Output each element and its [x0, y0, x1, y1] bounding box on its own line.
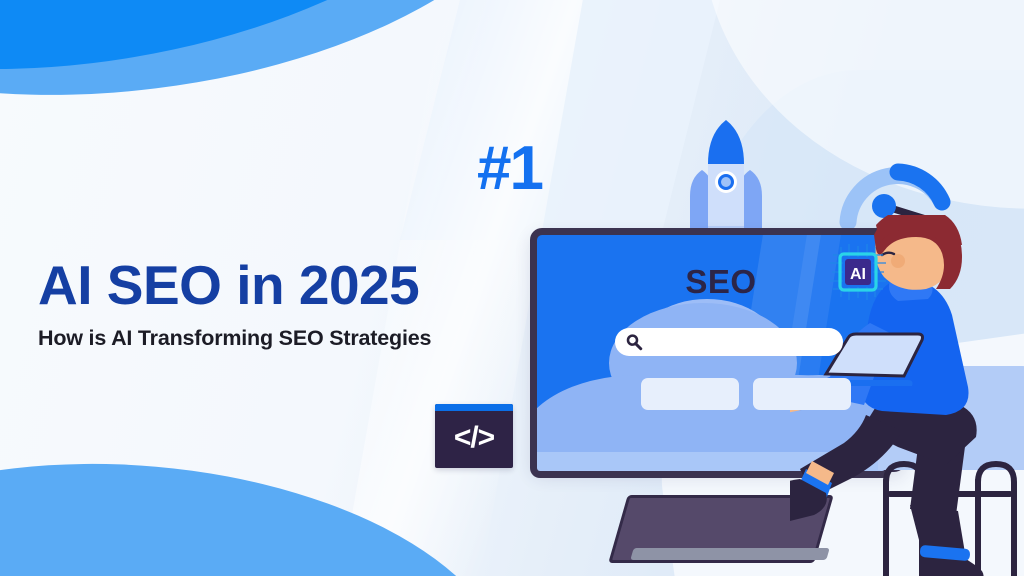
search-icon	[625, 333, 643, 351]
search-bar[interactable]	[615, 328, 843, 356]
page-title: AI SEO in 2025	[38, 258, 508, 313]
search-results-row	[641, 378, 851, 410]
code-brackets-icon: </>	[435, 404, 513, 468]
ai-seo-banner: AI SEO in 2025 How is AI Transforming SE…	[0, 0, 1024, 576]
page-subtitle: How is AI Transforming SEO Strategies	[38, 326, 508, 351]
headline-block: AI SEO in 2025 How is AI Transforming SE…	[38, 258, 508, 351]
ai-chip-icon: AI	[827, 241, 889, 303]
ai-chip-label: AI	[850, 266, 866, 283]
rank-badge: #1	[477, 138, 542, 200]
code-icon-glyph: </>	[435, 411, 513, 465]
result-placeholder-1[interactable]	[641, 378, 739, 410]
result-placeholder-2[interactable]	[753, 378, 851, 410]
code-icon-titlebar	[435, 404, 513, 411]
